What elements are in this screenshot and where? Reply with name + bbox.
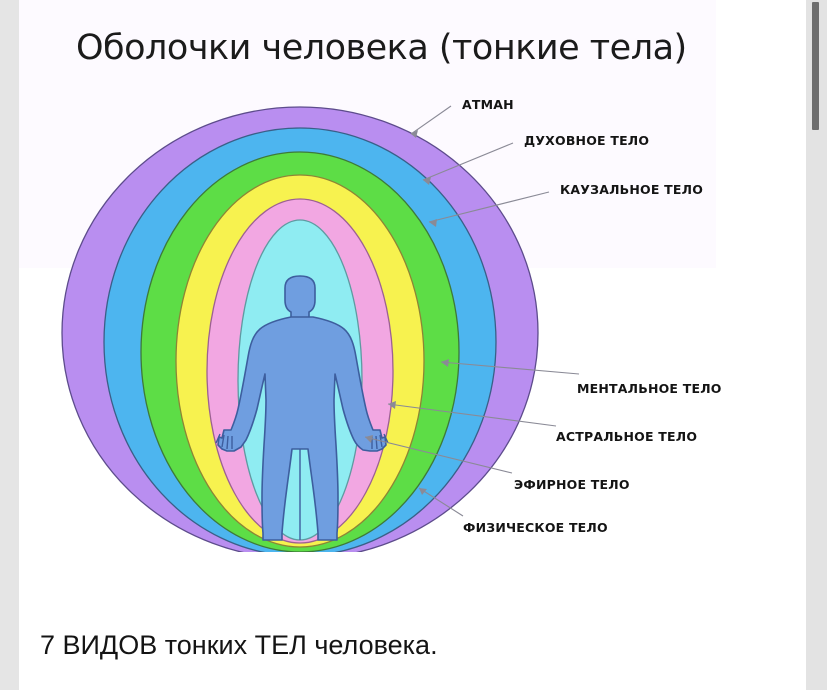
page-caption: 7 ВИДОВ тонких ТЕЛ человека. <box>40 630 438 661</box>
callout-label-astral-body: АСТРАЛЬНОЕ ТЕЛО <box>556 429 697 444</box>
callout-label-mental-body: МЕНТАЛЬНОЕ ТЕЛО <box>577 381 722 396</box>
callout-label-etheric-body: ЭФИРНОЕ ТЕЛО <box>514 477 630 492</box>
left-gutter <box>0 0 19 690</box>
scrollbar-thumb[interactable] <box>812 2 819 130</box>
screenshot-root: Оболочки человека (тонкие тела) <box>0 0 827 690</box>
aura-layers-graphic <box>19 0 790 552</box>
diagram-image: Оболочки человека (тонкие тела) <box>19 0 790 552</box>
callout-label-spiritual-body: ДУХОВНОЕ ТЕЛО <box>524 133 649 148</box>
vertical-scrollbar[interactable] <box>806 0 827 690</box>
callout-label-atman: АТМАН <box>462 97 514 112</box>
callout-label-physical-body: ФИЗИЧЕСКОЕ ТЕЛО <box>463 520 608 535</box>
callout-label-causal-body: КАУЗАЛЬНОЕ ТЕЛО <box>560 182 703 197</box>
